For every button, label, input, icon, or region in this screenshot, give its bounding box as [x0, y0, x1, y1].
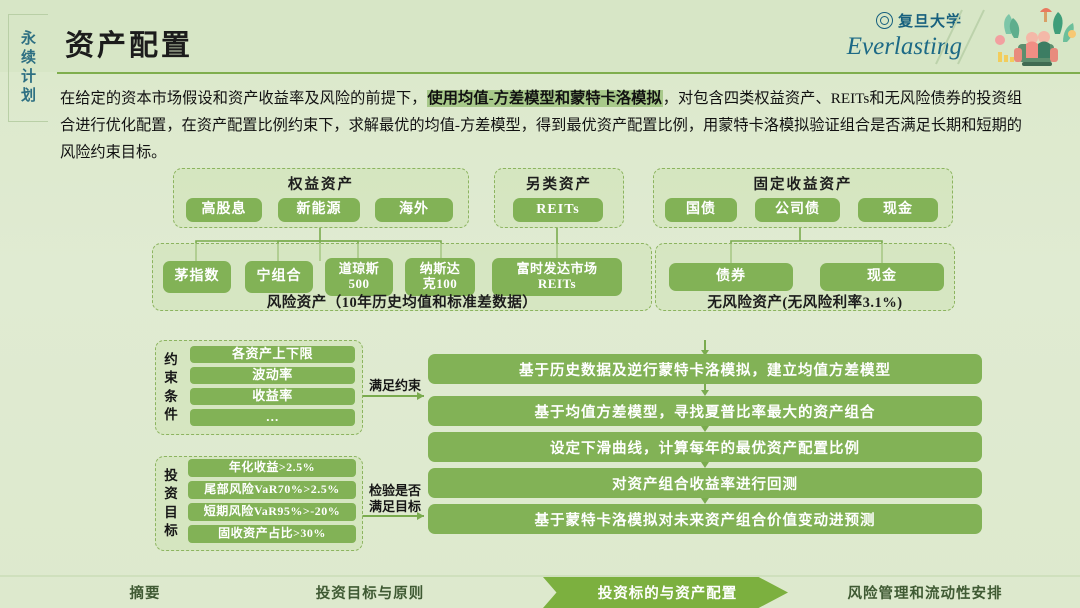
constraints-label: 约 束 条 件 — [158, 343, 184, 432]
side-tag-char-4: 划 — [21, 88, 36, 105]
objectives-label-char-1: 投 — [164, 467, 178, 485]
constraints-label-char-3: 条 — [164, 388, 178, 406]
people-illustration — [988, 4, 1080, 72]
constraint-item-asset-limits[interactable]: 各资产上下限 — [190, 346, 355, 363]
objectives-arrow-label-line-1: 检验是否 — [364, 483, 426, 499]
nav-item-risk-liquidity[interactable]: 风险管理和流动性安排 — [800, 577, 1050, 608]
risk-asset-pill-ning-combo[interactable]: 宁组合 — [245, 261, 313, 293]
constraints-label-char-2: 束 — [164, 369, 178, 387]
asset-pill-cash[interactable]: 现金 — [858, 198, 938, 222]
slide-root: 永 续 计 划 资产配置 复旦大学 Everlasting — [0, 0, 1080, 608]
asset-pill-government-bond[interactable]: 国债 — [665, 198, 737, 222]
side-tag-char-2: 续 — [21, 50, 36, 67]
constraints-label-char-4: 件 — [164, 406, 178, 424]
flow-step-4[interactable]: 对资产组合收益率进行回测 — [428, 468, 982, 498]
objective-item-annual-return[interactable]: 年化收益>2.5% — [188, 459, 356, 477]
flow-step-2[interactable]: 基于均值方差模型，寻找夏普比率最大的资产组合 — [428, 396, 982, 426]
flow-step-5[interactable]: 基于蒙特卡洛模拟对未来资产组合价值变动进预测 — [428, 504, 982, 534]
risk-asset-pill-mao-index[interactable]: 茅指数 — [163, 261, 231, 293]
flow-step-3[interactable]: 设定下滑曲线，计算每年的最优资产配置比例 — [428, 432, 982, 462]
constraint-item-more[interactable]: … — [190, 409, 355, 426]
side-tag-char-3: 计 — [21, 69, 36, 86]
side-tag-char-1: 永 — [21, 31, 36, 48]
header-divider — [57, 72, 1080, 74]
objectives-arrow-label: 检验是否 满足目标 — [364, 483, 426, 514]
decorative-slashes — [928, 6, 988, 68]
intro-highlight: 使用均值-方差模型和蒙特卡洛模拟 — [427, 90, 663, 107]
group-equity-title: 权益资产 — [174, 173, 468, 194]
objective-item-tail-risk-var70[interactable]: 尾部风险VaR70%>2.5% — [188, 481, 356, 499]
constraint-item-return-rate[interactable]: 收益率 — [190, 388, 355, 405]
riskfree-assets-caption: 无风险资产(无风险利率3.1%) — [655, 291, 955, 312]
constraints-arrow-label: 满足约束 — [364, 378, 426, 394]
constraints-label-char-1: 约 — [164, 351, 178, 369]
objectives-label-char-2: 资 — [164, 485, 178, 503]
group-fixed-income-title: 固定收益资产 — [654, 173, 952, 194]
risk-assets-caption: 风险资产（10年历史均值和标准差数据） — [152, 291, 652, 312]
nav-item-objectives-principles[interactable]: 投资目标与原则 — [265, 577, 475, 608]
intro-part-1: 在给定的资本市场假设和资产收益率及风险的前提下， — [60, 90, 427, 107]
university-seal-icon — [876, 12, 893, 29]
objective-item-fixed-income-share[interactable]: 固收资产占比>30% — [188, 525, 356, 543]
objectives-label: 投 资 目 标 — [158, 459, 184, 548]
asset-pill-overseas[interactable]: 海外 — [375, 198, 453, 222]
constraint-item-volatility[interactable]: 波动率 — [190, 367, 355, 384]
nav-item-targets-allocation[interactable]: 投资标的与资产配置 — [560, 577, 775, 608]
intro-paragraph: 在给定的资本市场假设和资产收益率及风险的前提下，使用均值-方差模型和蒙特卡洛模拟… — [60, 85, 1022, 166]
asset-pill-new-energy[interactable]: 新能源 — [278, 198, 360, 222]
page-title: 资产配置 — [65, 22, 193, 64]
objectives-label-char-3: 目 — [164, 504, 178, 522]
group-alternative-title: 另类资产 — [495, 173, 623, 194]
asset-pill-reits[interactable]: REITs — [513, 198, 603, 222]
asset-pill-corporate-bond[interactable]: 公司债 — [755, 198, 840, 222]
objective-item-short-term-var95[interactable]: 短期风险VaR95%>-20% — [188, 503, 356, 521]
bottom-navigation: 摘要 投资目标与原则 投资标的与资产配置 风险管理和流动性安排 — [0, 577, 1080, 608]
objectives-label-char-4: 标 — [164, 522, 178, 540]
riskfree-pill-cash[interactable]: 现金 — [820, 263, 944, 291]
flow-step-1[interactable]: 基于历史数据及逆行蒙特卡洛模拟，建立均值方差模型 — [428, 354, 982, 384]
objectives-arrow-label-line-2: 满足目标 — [364, 499, 426, 515]
asset-pill-high-dividend[interactable]: 高股息 — [186, 198, 262, 222]
nav-item-summary[interactable]: 摘要 — [60, 577, 230, 608]
riskfree-pill-bond[interactable]: 债券 — [669, 263, 793, 291]
side-tag-everlasting-plan: 永 续 计 划 — [8, 14, 48, 122]
